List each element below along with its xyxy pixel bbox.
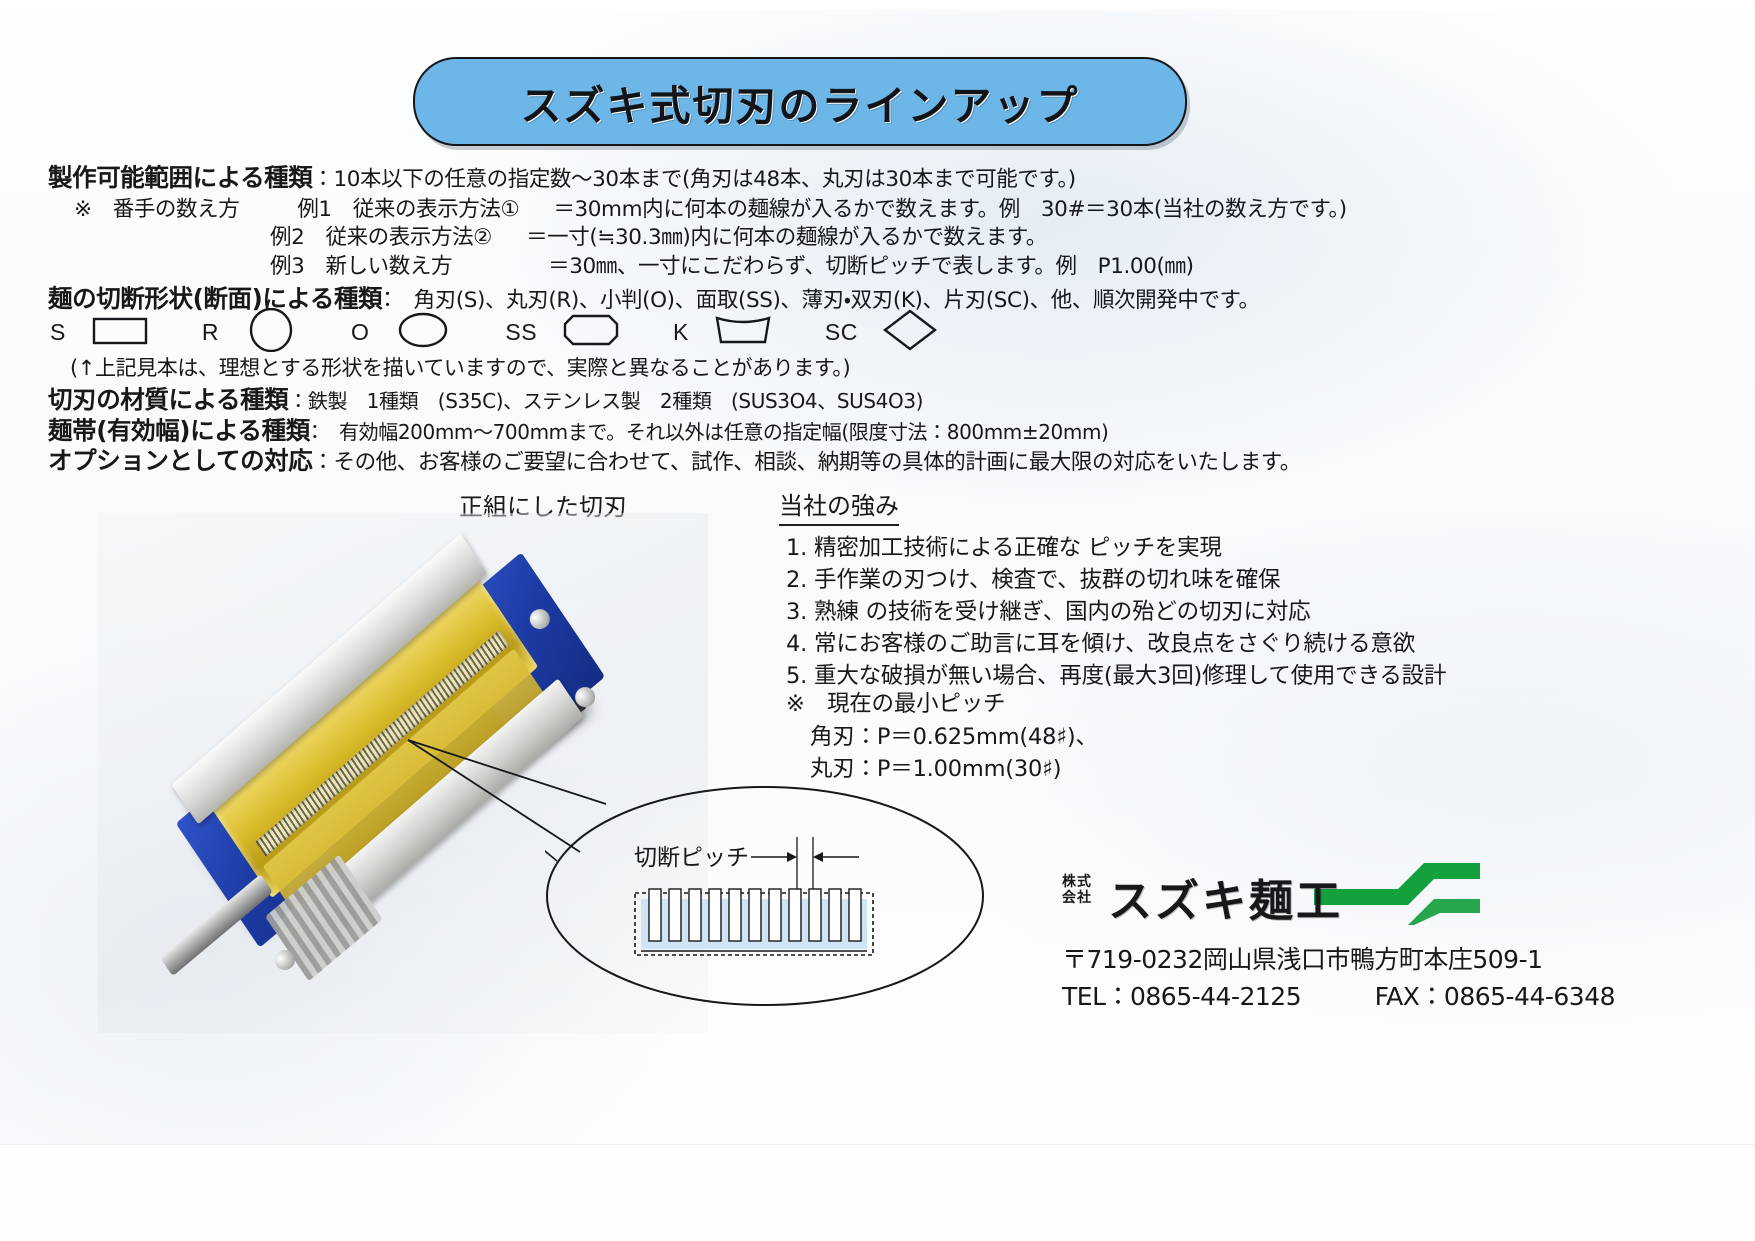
list-item: 2. 手作業の刃つけ、検査で、抜群の切れ味を確保 [786, 565, 1366, 597]
company-address: 〒719-0232岡山県浅口市鴨方町本庄509-1 [1062, 940, 1543, 976]
strengths-list: 1. 精密加工技術による正確な ピッチを実現 2. 手作業の刃つけ、検査で、抜群… [786, 533, 1366, 693]
width-value: ： 有効幅200mm〜700mmまで。それ以外は任意の指定幅(限度寸法：800m… [310, 420, 1109, 444]
spec-row-example-3: 例3 新しい数え方＝30㎜、一寸にこだわらず、切断ピッチで表します。例 P1.0… [48, 256, 1338, 278]
list-item: 4. 常にお客様のご助言に耳を傾け、改良点をさぐり続ける意欲 [786, 629, 1366, 661]
example-3-value: ＝30㎜、一寸にこだわらず、切断ピッチで表します。例 P1.00(㎜) [548, 254, 1193, 279]
width-label: 麺帯(有効幅)による種類 [48, 416, 310, 445]
square-shape-icon [90, 313, 150, 351]
material-label: 切刃の材質による種類 [48, 385, 288, 414]
spec-row-width: 麺帯(有効幅)による種類： 有効幅200mm〜700mmまで。それ以外は任意の指… [48, 419, 1348, 444]
spec-row-example-2: 例2 従来の表示方法②＝一寸(≒30.3㎜)内に何本の麺線が入るかで数えます。 [48, 227, 1338, 249]
strengths-heading: 当社の強み [779, 486, 899, 526]
example-1-label: 例1 従来の表示方法① [297, 197, 519, 222]
spec-row-option: オプションとしての対応：その他、お客様のご要望に合わせて、試作、相談、納期等の具… [48, 449, 1348, 474]
spec-row-shape-note: (↑上記見本は、理想とする形状を描いていますので、実際と異なることがあります。) [48, 358, 1348, 379]
logo-kabu-line-1: 株式 [1062, 875, 1092, 891]
wide-oval-shape-icon [393, 311, 453, 353]
shape-code-k: K [673, 319, 689, 346]
title-banner: スズキ式切刃のラインアップ [413, 57, 1187, 146]
count-note-head: ※ 番手の数え方 [74, 197, 239, 222]
diamond-shape-icon [882, 308, 938, 356]
shape-cell-r: R [202, 308, 299, 356]
spec-row-range: 製作可能範囲による種類：10本以下の任意の指定数〜30本まで(角刃は48本、丸刃… [48, 166, 1338, 191]
shape-cell-ss: SS [505, 312, 621, 352]
list-item: 3. 熟練 の技術を受け継ぎ、国内の殆どの切刃に対応 [786, 597, 1366, 629]
list-item: 1. 精密加工技術による正確な ピッチを実現 [786, 533, 1366, 565]
specification-block: 製作可能範囲による種類：10本以下の任意の指定数〜30本まで(角刃は48本、丸刃… [48, 166, 1338, 316]
logo-kabu-line-2: 会社 [1062, 891, 1092, 907]
option-label: オプションとしての対応 [48, 446, 312, 475]
callout-leader-line [400, 700, 700, 860]
shape-code-sc: SC [825, 319, 858, 346]
shape-cell-k: K [673, 312, 773, 352]
option-value: ：その他、お客様のご要望に合わせて、試作、相談、納期等の具体的計画に最大限の対応… [312, 450, 1300, 475]
minimum-pitch-square: 角刃：P＝0.625mm(48♯)、 [786, 721, 1326, 754]
company-name: スズキ麺工 [1108, 865, 1343, 929]
shape-code-r: R [202, 319, 219, 346]
minimum-pitch-round: 丸刃：P＝1.00mm(30♯) [786, 753, 1326, 786]
company-tel-fax: TEL：0865-44-2125 FAX：0865-44-6348 [1062, 977, 1615, 1013]
shape-note: (↑上記見本は、理想とする形状を描いていますので、実際と異なることがあります。) [48, 356, 850, 380]
concave-trapezoid-shape-icon [713, 312, 773, 352]
range-value: ：10本以下の任意の指定数〜30本まで(角刃は48本、丸刃は30本まで可能です。… [312, 167, 1075, 192]
example-2-label: 例2 従来の表示方法② [270, 225, 492, 250]
shape-code-o: O [351, 319, 369, 346]
shape-code-ss: SS [505, 319, 537, 346]
material-value: ：鉄製 1種類 (S35C)、ステンレス製 2種類 (SUS3O4、SUS4O3… [288, 389, 923, 413]
tall-oval-shape-icon [243, 308, 299, 356]
shape-symbol-row: S R O SS K SC [50, 310, 1110, 354]
company-logo: 株式 会社 スズキ麺工 [1062, 865, 1482, 933]
logo-kabushiki-text: 株式 会社 [1062, 875, 1092, 906]
minimum-pitch-note: ※ 現在の最小ピッチ 角刃：P＝0.625mm(48♯)、 丸刃：P＝1.00m… [786, 688, 1326, 786]
example-2-value: ＝一寸(≒30.3㎜)内に何本の麺線が入るかで数えます。 [526, 225, 1047, 250]
example-3-label: 例3 新しい数え方 [270, 254, 452, 279]
shape-code-s: S [50, 319, 66, 346]
minimum-pitch-heading: ※ 現在の最小ピッチ [786, 688, 1326, 721]
page-title: スズキ式切刃のラインアップ [521, 72, 1080, 132]
example-1-value: ＝30mm内に何本の麺線が入るかで数えます。例 30#＝30本(当社の数え方です… [553, 197, 1346, 222]
shape-cell-sc: SC [825, 308, 938, 356]
specification-block-lower: (↑上記見本は、理想とする形状を描いていますので、実際と異なることがあります。)… [48, 358, 1348, 474]
range-label: 製作可能範囲による種類 [48, 163, 312, 192]
spec-row-example-1: ※ 番手の数え方例1 従来の表示方法①＝30mm内に何本の麺線が入るかで数えます… [48, 199, 1338, 221]
page-top-margin [0, 0, 1755, 10]
spec-row-material: 切刃の材質による種類：鉄製 1種類 (S35C)、ステンレス製 2種類 (SUS… [48, 388, 1348, 413]
chamfered-shape-icon [561, 312, 621, 352]
shape-cell-o: O [351, 311, 453, 353]
page-bottom-margin [0, 1144, 1755, 1241]
shape-cell-s: S [50, 313, 150, 351]
